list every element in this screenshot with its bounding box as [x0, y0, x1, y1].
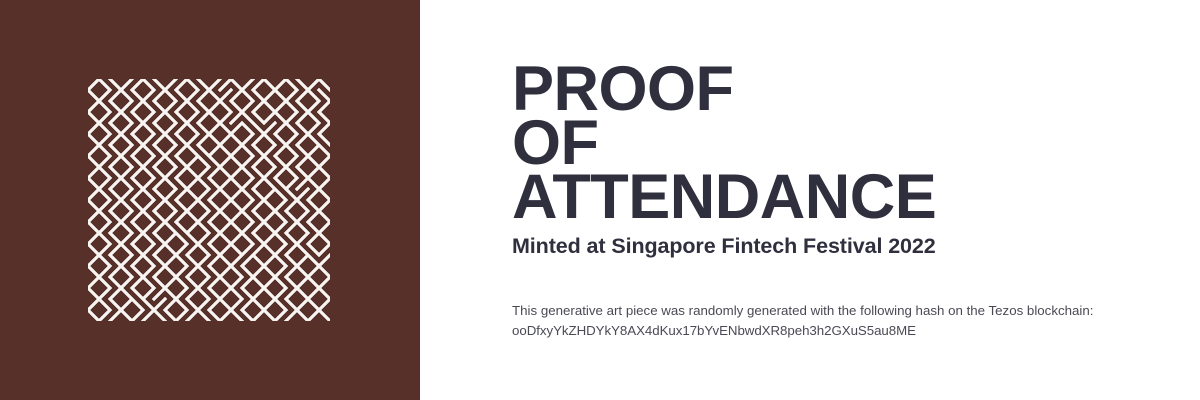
subtitle-event: Minted at Singapore Fintech Festival 202…: [512, 234, 1200, 259]
description-block: This generative art piece was randomly g…: [512, 301, 1200, 341]
title-line-1: PROOF: [512, 62, 1200, 116]
token-hash: ooDfxyYkZHDYkY8AX4dKux17bYvENbwdXR8peh3h…: [512, 321, 1200, 341]
content-panel: PROOF OF ATTENDANCE Minted at Singapore …: [420, 0, 1200, 400]
truchet-maze-icon: [88, 79, 330, 321]
artwork-panel: [0, 0, 420, 400]
generative-art-frame: [88, 79, 330, 321]
title-line-3: ATTENDANCE: [512, 170, 1200, 224]
proof-of-attendance-card: PROOF OF ATTENDANCE Minted at Singapore …: [0, 0, 1200, 400]
page-title: PROOF OF ATTENDANCE: [512, 62, 1200, 225]
description-text: This generative art piece was randomly g…: [512, 301, 1200, 321]
